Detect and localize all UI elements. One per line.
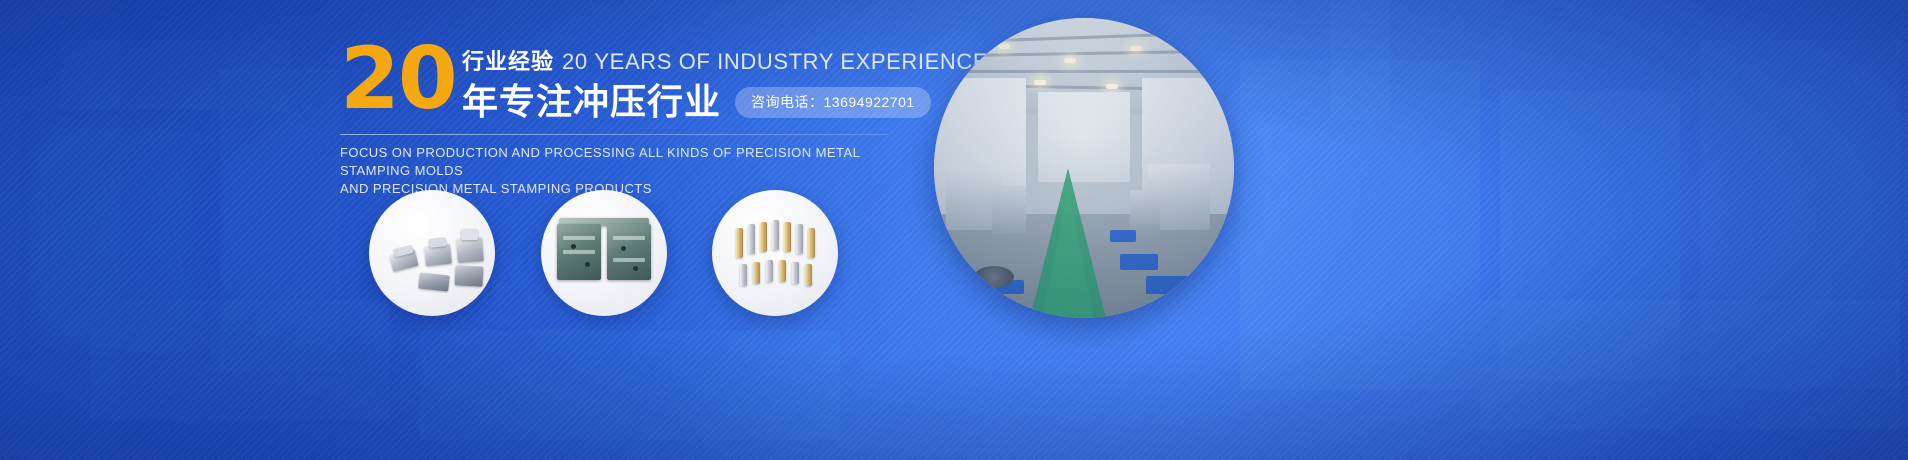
factory-photo-shading	[934, 18, 1234, 318]
pin-parts-group	[712, 190, 838, 316]
product-circle-mold[interactable]	[541, 190, 667, 316]
connector-shell-2	[424, 244, 452, 267]
product-circle-pins[interactable]	[712, 190, 838, 316]
mold-parts-group	[541, 190, 667, 316]
factory-photo-circle[interactable]	[934, 18, 1234, 318]
hero-banner: 20 行业经验20 YEARS OF INDUSTRY EXPERIENCE 年…	[0, 0, 1908, 460]
mold-hole-3	[621, 246, 626, 251]
connector-shell-3	[456, 237, 484, 263]
mold-hole-1	[571, 244, 576, 249]
mold-hole-2	[585, 262, 590, 267]
mold-rib-1	[563, 236, 595, 240]
pin-9	[753, 262, 760, 284]
headline-en-small: 20 YEARS OF INDUSTRY EXPERIENCE	[562, 49, 988, 74]
headline-lines: 行业经验20 YEARS OF INDUSTRY EXPERIENCE 年专注冲…	[462, 44, 902, 124]
mold-rib-4	[613, 258, 645, 262]
connector-shell-2-tab	[429, 237, 447, 248]
headline-cn-large: 年专注冲压行业	[462, 80, 721, 124]
headline-block: 20 行业经验20 YEARS OF INDUSTRY EXPERIENCE 年…	[340, 36, 900, 198]
pin-1	[736, 228, 743, 258]
product-circle-connectors[interactable]	[369, 190, 495, 316]
mold-half-right	[607, 224, 651, 280]
connector-shell-5	[454, 265, 483, 286]
pin-10	[766, 260, 773, 282]
headline-cn-small: 行业经验	[462, 49, 554, 74]
pin-6	[796, 224, 803, 254]
pin-12	[792, 262, 799, 284]
phone-badge[interactable]: 咨询电话：13694922701	[735, 87, 931, 118]
pin-13	[805, 264, 812, 286]
connector-shell-4	[418, 272, 450, 291]
headline-top-row: 20 行业经验20 YEARS OF INDUSTRY EXPERIENCE 年…	[340, 36, 900, 128]
pin-8	[740, 264, 747, 286]
mold-hole-4	[633, 266, 638, 271]
pin-11	[779, 260, 786, 282]
headline-line-1: 行业经验20 YEARS OF INDUSTRY EXPERIENCE	[462, 44, 902, 76]
subtitle-line-1: FOCUS ON PRODUCTION AND PROCESSING ALL K…	[340, 144, 900, 180]
mold-rib-2	[563, 250, 595, 254]
pin-3	[760, 222, 767, 252]
connector-parts-group	[369, 190, 495, 316]
pin-4	[772, 220, 779, 250]
pin-5	[784, 222, 791, 252]
years-number: 20	[340, 36, 456, 122]
connector-shell-3-tab	[461, 229, 478, 240]
headline-divider	[340, 134, 888, 135]
headline-line-2: 年专注冲压行业 咨询电话：13694922701	[462, 80, 902, 124]
pin-7	[808, 228, 815, 258]
pin-2	[748, 224, 755, 254]
mold-rib-3	[613, 236, 645, 240]
